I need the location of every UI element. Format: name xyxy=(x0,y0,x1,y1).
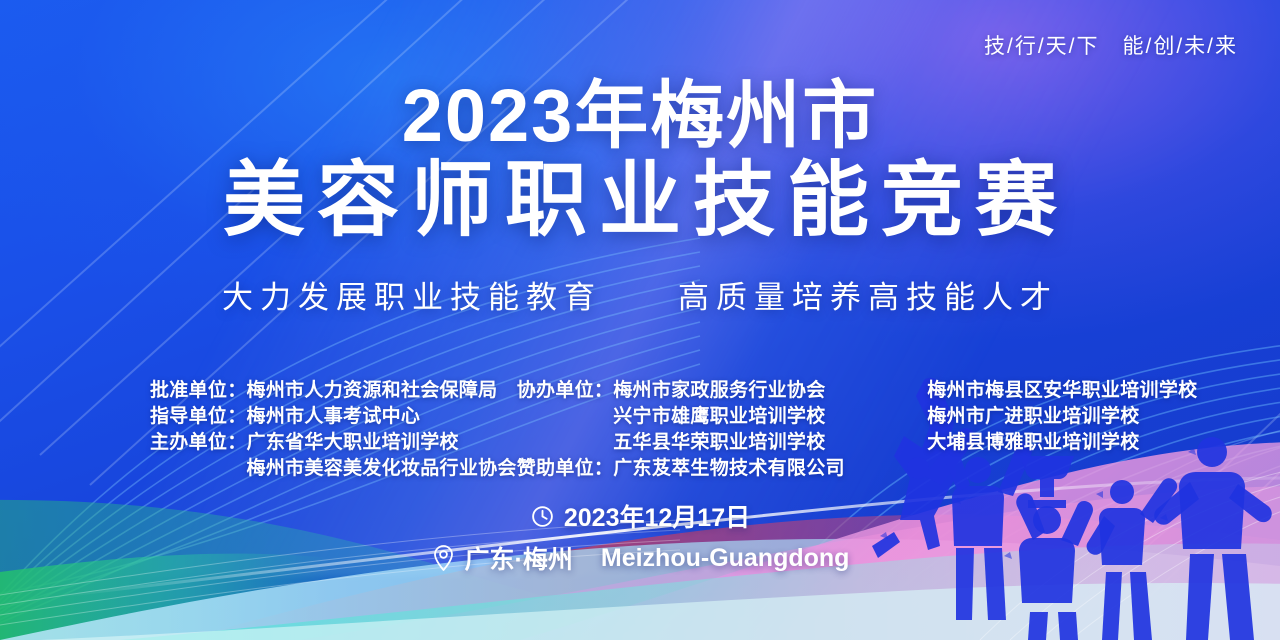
organizer-value: 兴宁市雄鹰职业培训学校 xyxy=(613,404,913,430)
subtitle: 大力发展职业技能教育 高质量培养高技能人才 xyxy=(0,272,1280,317)
organizer-value: 梅州市梅县区安华职业培训学校 xyxy=(927,378,1197,404)
organizer-value: 五华县华荣职业培训学校 xyxy=(613,430,913,456)
organizer-row: 主办单位： 广东省华大职业培训学校 xyxy=(150,430,517,456)
organizer-values: 五华县华荣职业培训学校 大埔县博雅职业培训学校 xyxy=(613,430,1139,456)
organizers-block: 批准单位： 梅州市人力资源和社会保障局 指导单位： 梅州市人事考试中心 主办单位… xyxy=(150,378,1180,482)
event-date-text: 2023年12月17日 xyxy=(564,498,750,534)
organizer-label: 协办单位： xyxy=(517,378,614,404)
event-meta: 2023年12月17日 广东·梅州 Meizhou-Guangdong xyxy=(0,498,1280,577)
title-line-1: 2023年梅州市 xyxy=(0,78,1280,153)
organizer-values: 梅州市家政服务行业协会 梅州市梅县区安华职业培训学校 xyxy=(613,378,1197,404)
organizer-label: 赞助单位： xyxy=(517,456,614,482)
organizer-row: 主办单位： 梅州市美容美发化妆品行业协会 xyxy=(150,456,517,482)
organizer-row: 协办单位： 兴宁市雄鹰职业培训学校 梅州市广进职业培训学校 xyxy=(517,404,1198,430)
organizer-values: 广东芨萃生物技术有限公司 xyxy=(613,456,913,482)
event-date-row: 2023年12月17日 xyxy=(530,498,750,534)
organizer-value: 梅州市家政服务行业协会 xyxy=(613,378,913,404)
organizer-values: 兴宁市雄鹰职业培训学校 梅州市广进职业培训学校 xyxy=(613,404,1139,430)
organizer-label: 批准单位： xyxy=(150,378,247,404)
event-poster: 技/行/天/下 能/创/未/来 2023年梅州市 美容师职业技能竞赛 大力发展职… xyxy=(0,0,1280,640)
organizer-value: 大埔县博雅职业培训学校 xyxy=(927,430,1139,456)
organizer-value: 梅州市人事考试中心 xyxy=(247,404,421,430)
clock-icon xyxy=(530,504,555,529)
event-location-cn: 广东·梅州 xyxy=(465,540,573,576)
title-line-2: 美容师职业技能竞赛 xyxy=(0,157,1280,246)
organizer-label: 指导单位： xyxy=(150,404,247,430)
organizer-values: 广东省华大职业培训学校 xyxy=(247,430,459,456)
organizer-values: 梅州市人力资源和社会保障局 xyxy=(247,378,498,404)
title-block: 2023年梅州市 美容师职业技能竞赛 xyxy=(0,78,1280,246)
event-location-en: Meizhou-Guangdong xyxy=(601,544,850,573)
location-pin-icon xyxy=(431,544,456,572)
organizer-label: 主办单位： xyxy=(150,430,247,456)
organizer-value: 梅州市广进职业培训学校 xyxy=(927,404,1139,430)
organizer-row: 指导单位： 梅州市人事考试中心 xyxy=(150,404,517,430)
organizer-values: 梅州市美容美发化妆品行业协会 xyxy=(247,456,517,482)
organizer-row: 协办单位： 五华县华荣职业培训学校 大埔县博雅职业培训学校 xyxy=(517,430,1198,456)
organizer-value: 广东芨萃生物技术有限公司 xyxy=(613,456,913,482)
organizer-row: 赞助单位： 广东芨萃生物技术有限公司 xyxy=(517,456,1198,482)
organizer-values: 梅州市人事考试中心 xyxy=(247,404,421,430)
organizer-value: 梅州市人力资源和社会保障局 xyxy=(247,378,498,404)
tagline: 技/行/天/下 能/创/未/来 xyxy=(984,30,1238,60)
organizer-value: 梅州市美容美发化妆品行业协会 xyxy=(247,456,517,482)
organizer-row: 批准单位： 梅州市人力资源和社会保障局 xyxy=(150,378,517,404)
organizer-row: 协办单位： 梅州市家政服务行业协会 梅州市梅县区安华职业培训学校 xyxy=(517,378,1198,404)
organizer-value: 广东省华大职业培训学校 xyxy=(247,430,459,456)
event-location-row: 广东·梅州 Meizhou-Guangdong xyxy=(431,540,850,576)
organizers-column-left: 批准单位： 梅州市人力资源和社会保障局 指导单位： 梅州市人事考试中心 主办单位… xyxy=(150,378,517,482)
organizers-column-right: 协办单位： 梅州市家政服务行业协会 梅州市梅县区安华职业培训学校 协办单位： 兴… xyxy=(517,378,1198,482)
